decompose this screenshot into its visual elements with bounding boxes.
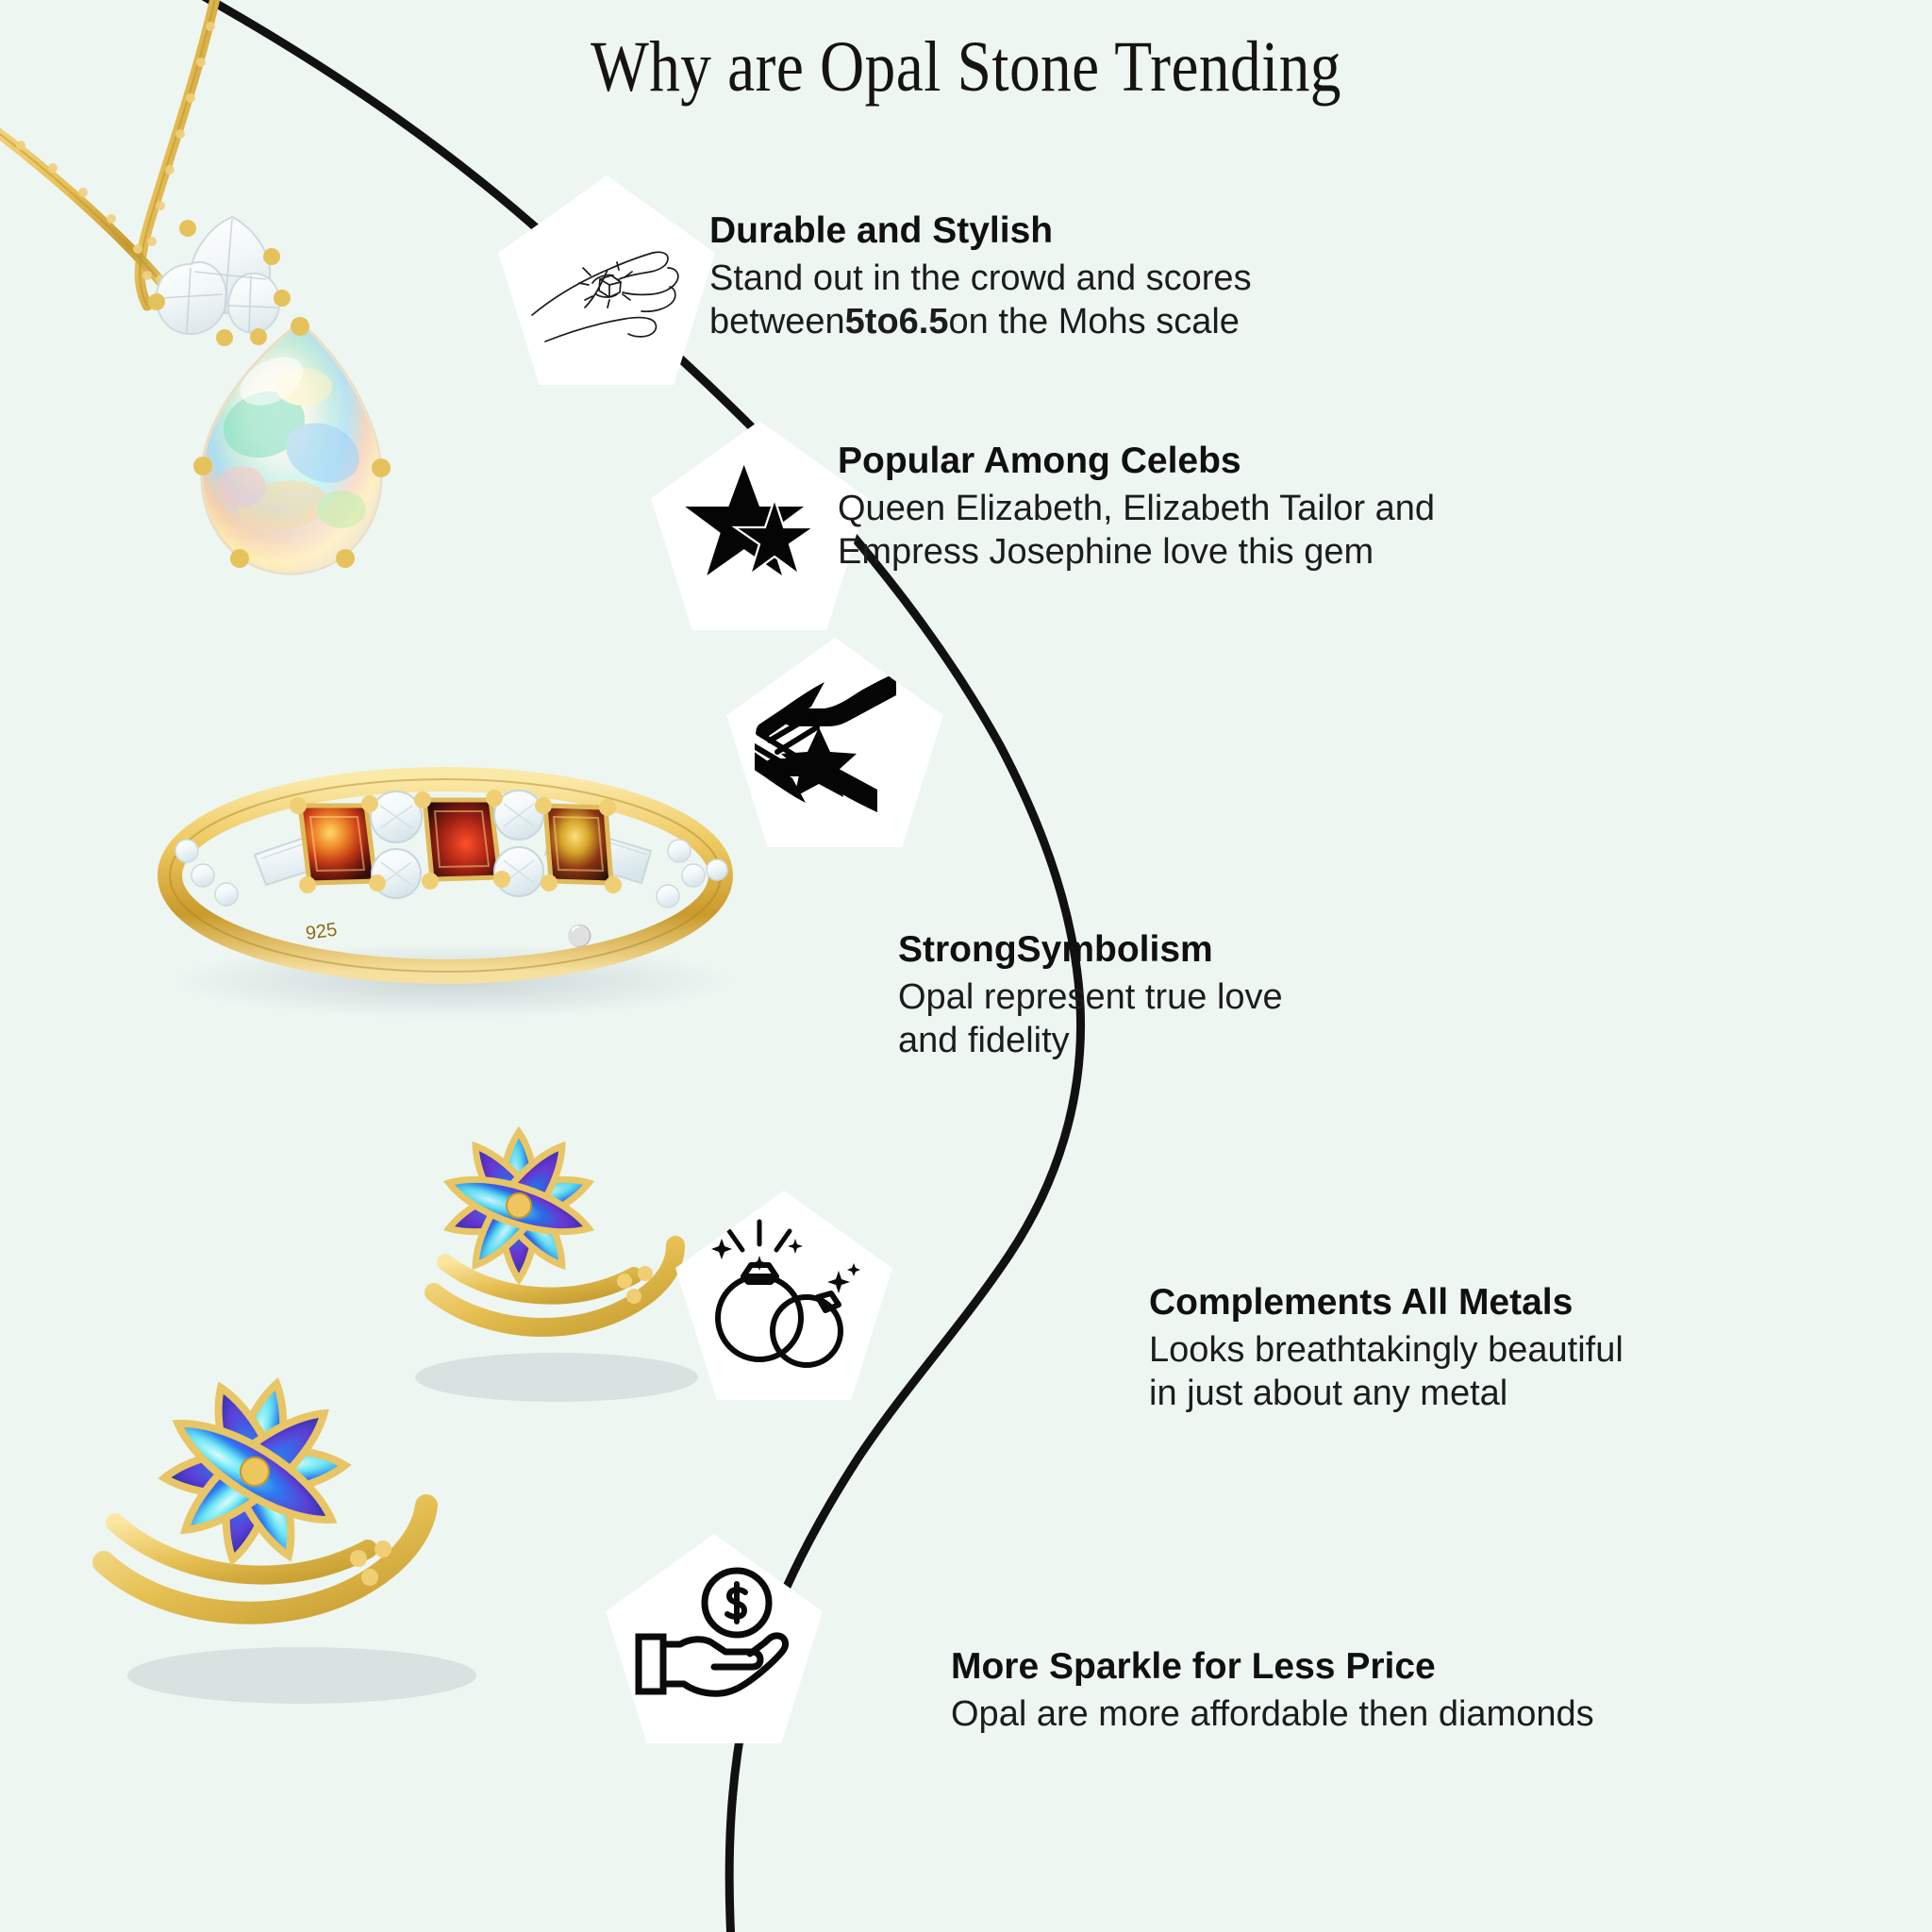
- hands-holding-star-icon: [755, 667, 915, 818]
- text-block-symbolism: StrongSymbolism Opal represent true love…: [898, 928, 1502, 1063]
- badge-durable: [498, 175, 715, 385]
- desc-symbolism-line2: and fidelity: [898, 1019, 1502, 1062]
- mohs-range: 5to6.5: [845, 302, 949, 341]
- badge-metals: [675, 1191, 892, 1400]
- ring-hallmark: 925: [305, 920, 339, 944]
- heading-celebs: Popular Among Celebs: [838, 440, 1517, 483]
- desc-symbolism-line1: Opal represent true love: [898, 975, 1502, 1019]
- desc-pre: between: [709, 302, 845, 341]
- hand-with-ring-sketch-icon: [526, 209, 687, 351]
- desc-metals-line1: Looks breathtakingly beautiful: [1149, 1328, 1809, 1372]
- desc-durable-line2: between5to6.5on the Mohs scale: [709, 300, 1370, 343]
- svg-text:⚪: ⚪: [565, 923, 593, 949]
- badge-price: [606, 1534, 823, 1743]
- infographic-canvas: Why are Opal Stone Trending: [0, 0, 1932, 1932]
- pentagon-badge: [498, 175, 715, 385]
- desc-celebs-line2: Empress Josephine love this gem: [838, 530, 1517, 574]
- desc-celebs-line1: Queen Elizabeth, Elizabeth Tailor and: [838, 487, 1517, 530]
- text-block-celebs: Popular Among Celebs Queen Elizabeth, El…: [838, 440, 1517, 575]
- text-block-metals: Complements All Metals Looks breathtakin…: [1149, 1281, 1809, 1416]
- desc-price-line1: Opal are more affordable then diamonds: [951, 1692, 1838, 1736]
- pentagon-badge: [675, 1191, 892, 1400]
- opal-pendant-necklace-photo: [0, 0, 500, 679]
- opal-band-ring-photo: 925 ⚪: [113, 764, 774, 1028]
- desc-post: on the Mohs scale: [949, 302, 1240, 341]
- hand-holding-dollar-coin-icon: [631, 1565, 797, 1712]
- pentagon-badge: [606, 1534, 823, 1743]
- heading-durable: Durable and Stylish: [709, 209, 1370, 253]
- text-block-price: More Sparkle for Less Price Opal are mor…: [951, 1645, 1838, 1736]
- badge-symbolism: [726, 638, 943, 847]
- pentagon-badge: [726, 638, 943, 847]
- heading-metals: Complements All Metals: [1149, 1281, 1809, 1324]
- badge-celebs: [651, 421, 868, 630]
- two-rings-sparkle-icon: [701, 1218, 867, 1373]
- desc-metals-line2: in just about any metal: [1149, 1372, 1809, 1415]
- heading-price: More Sparkle for Less Price: [951, 1645, 1838, 1689]
- desc-durable-line1: Stand out in the crowd and scores: [709, 257, 1370, 300]
- opal-flower-ring-photo: [75, 1321, 481, 1717]
- heading-symbolism: StrongSymbolism: [898, 928, 1502, 972]
- double-star-icon: [684, 459, 835, 591]
- pentagon-badge: [651, 421, 868, 630]
- text-block-durable: Durable and Stylish Stand out in the cro…: [709, 209, 1370, 344]
